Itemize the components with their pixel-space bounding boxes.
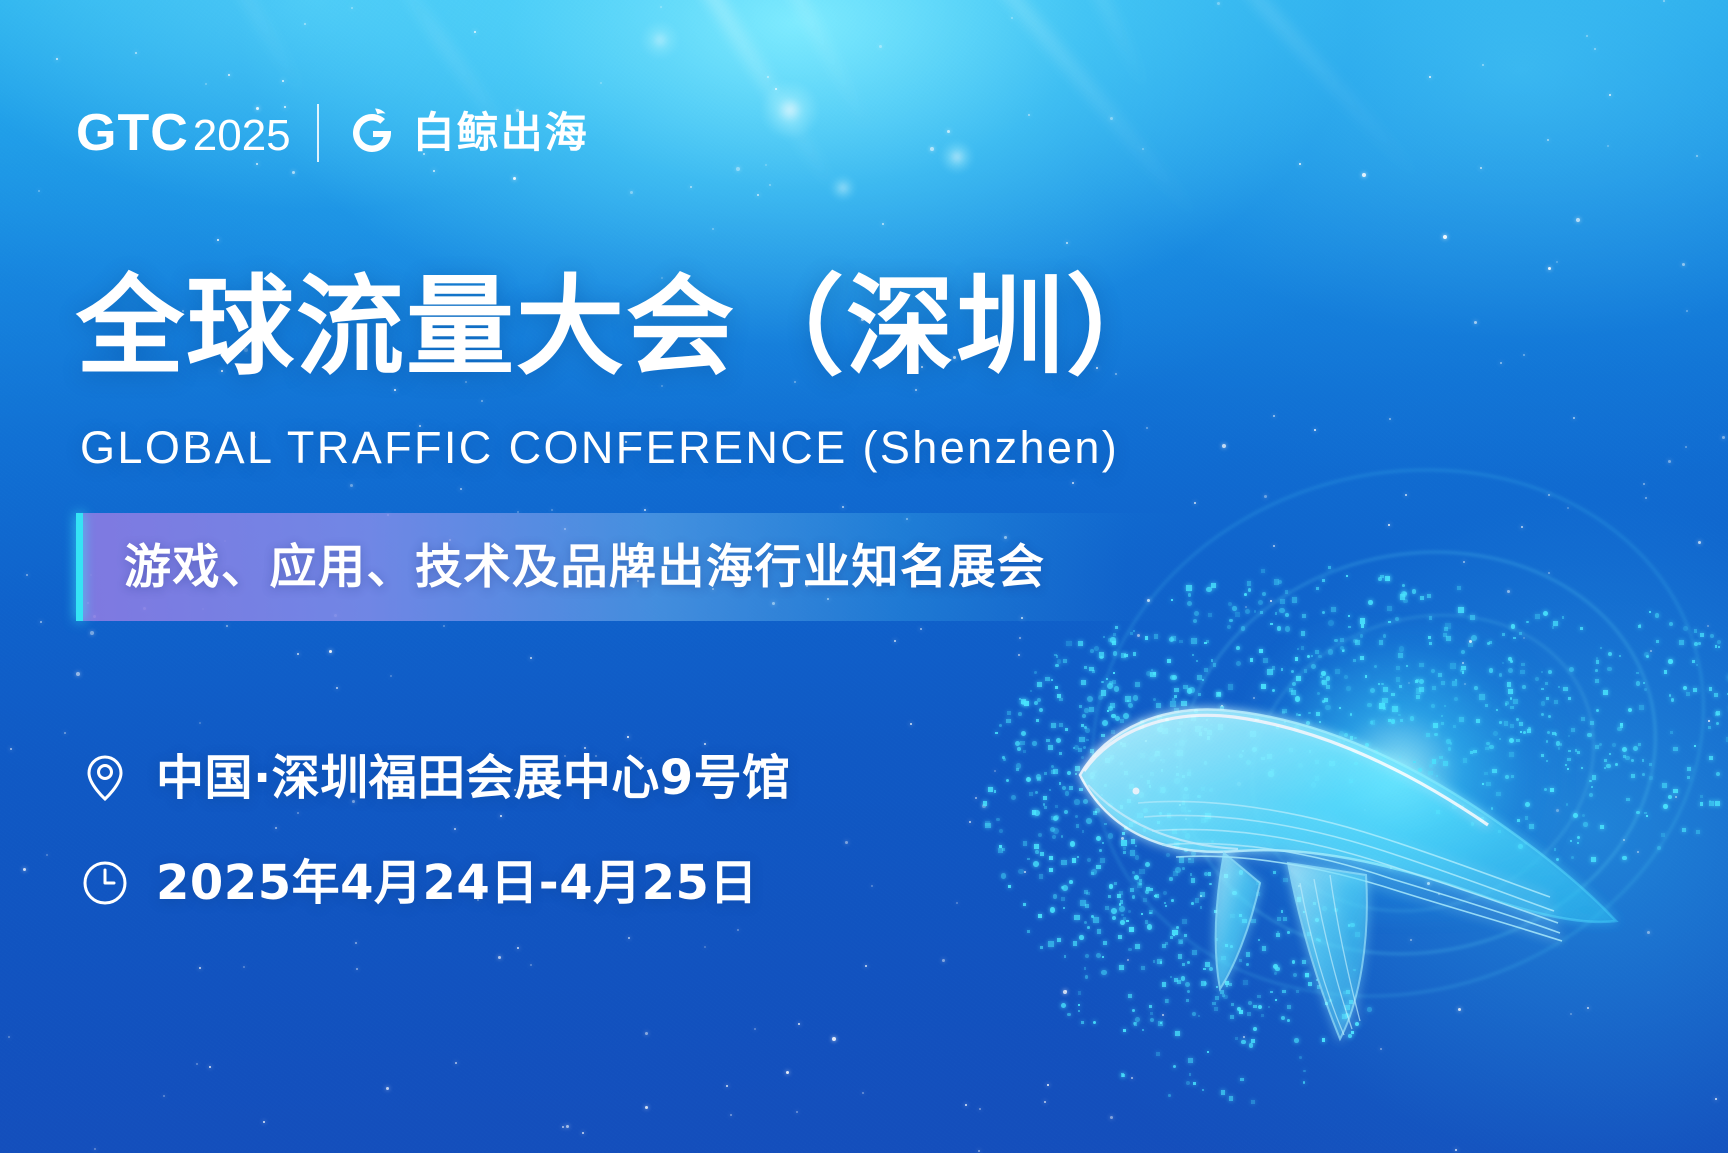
whale-circle-logo-icon: [345, 106, 399, 160]
location-pin-icon: [80, 753, 130, 803]
tagline-band: 游戏、应用、技术及品牌出海行业知名展会: [76, 513, 1194, 621]
venue-text: 中国·深圳福田会展中心9号馆: [156, 754, 791, 802]
glowing-particle-whale-icon: [988, 553, 1728, 1113]
tagline-accent-bar: [76, 513, 83, 621]
venue-info-row: 中国·深圳福田会展中心9号馆: [80, 753, 791, 803]
vertical-divider-icon: [317, 104, 319, 162]
page-subtitle: GLOBAL TRAFFIC CONFERENCE (Shenzhen): [80, 425, 1119, 470]
header-logo-row: GTC 2025 白鲸出海: [76, 104, 589, 162]
tagline-text: 游戏、应用、技术及品牌出海行业知名展会: [76, 544, 1046, 591]
brand-logo[interactable]: 白鲸出海: [345, 106, 589, 160]
date-info-row: 2025年4月24日-4月25日: [80, 858, 758, 908]
gtc-logo-year: 2025: [193, 114, 291, 158]
date-text: 2025年4月24日-4月25日: [156, 859, 758, 907]
page-title: 全球流量大会（深圳）: [76, 268, 1176, 389]
conference-banner: GTC 2025 白鲸出海 全球流量大会（深圳） GLOBAL TRAFFIC …: [0, 0, 1728, 1153]
gtc-event-logo[interactable]: GTC 2025: [76, 107, 291, 159]
gtc-logo-text: GTC: [76, 107, 189, 159]
clock-icon: [80, 858, 130, 908]
brand-name-text: 白鲸出海: [413, 112, 589, 154]
